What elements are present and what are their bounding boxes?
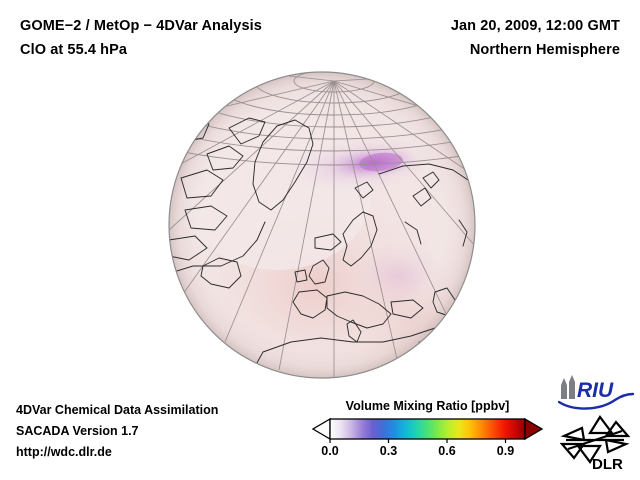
riu-logo-mark: RIU bbox=[557, 373, 635, 411]
colorbar-gradient bbox=[330, 419, 525, 439]
dlr-logo: DLR bbox=[560, 414, 632, 477]
colorbar-tick-1: 0.3 bbox=[380, 444, 397, 458]
colorbar-scale bbox=[310, 417, 545, 443]
credit-version: SACADA Version 1.7 bbox=[16, 421, 218, 442]
title-datetime: Jan 20, 2009, 12:00 GMT bbox=[451, 14, 620, 38]
credit-assimilation: 4DVar Chemical Data Assimilation bbox=[16, 400, 218, 421]
dlr-logo-mark: DLR bbox=[560, 414, 632, 472]
colorbar-tick-labels: 0.0 0.3 0.6 0.9 bbox=[310, 444, 545, 462]
riu-tower-icon bbox=[561, 375, 575, 399]
title-species-level: ClO at 55.4 hPa bbox=[20, 38, 262, 62]
orthographic-projection bbox=[167, 70, 477, 380]
colorbar-title: Volume Mixing Ratio [ppbv] bbox=[310, 399, 545, 413]
riu-logo: RIU bbox=[557, 373, 635, 416]
colorbar-tick-0: 0.0 bbox=[321, 444, 338, 458]
globe-map bbox=[167, 70, 477, 380]
riu-wordmark: RIU bbox=[577, 379, 614, 402]
header-right: Jan 20, 2009, 12:00 GMT Northern Hemisph… bbox=[451, 14, 620, 62]
title-region: Northern Hemisphere bbox=[451, 38, 620, 62]
colorbar: Volume Mixing Ratio [ppbv] bbox=[310, 399, 545, 462]
title-instrument: GOME−2 / MetOp − 4DVar Analysis bbox=[20, 14, 262, 38]
dlr-wordmark: DLR bbox=[592, 456, 623, 472]
colorbar-under-arrow bbox=[313, 419, 330, 439]
figure-canvas: GOME−2 / MetOp − 4DVar Analysis ClO at 5… bbox=[0, 0, 640, 480]
colorbar-over-arrow bbox=[525, 419, 542, 439]
footer-credits: 4DVar Chemical Data Assimilation SACADA … bbox=[16, 400, 218, 463]
header-left: GOME−2 / MetOp − 4DVar Analysis ClO at 5… bbox=[20, 14, 262, 62]
credit-url: http://wdc.dlr.de bbox=[16, 442, 218, 463]
colorbar-tick-2: 0.6 bbox=[438, 444, 455, 458]
colorbar-tick-3: 0.9 bbox=[497, 444, 514, 458]
